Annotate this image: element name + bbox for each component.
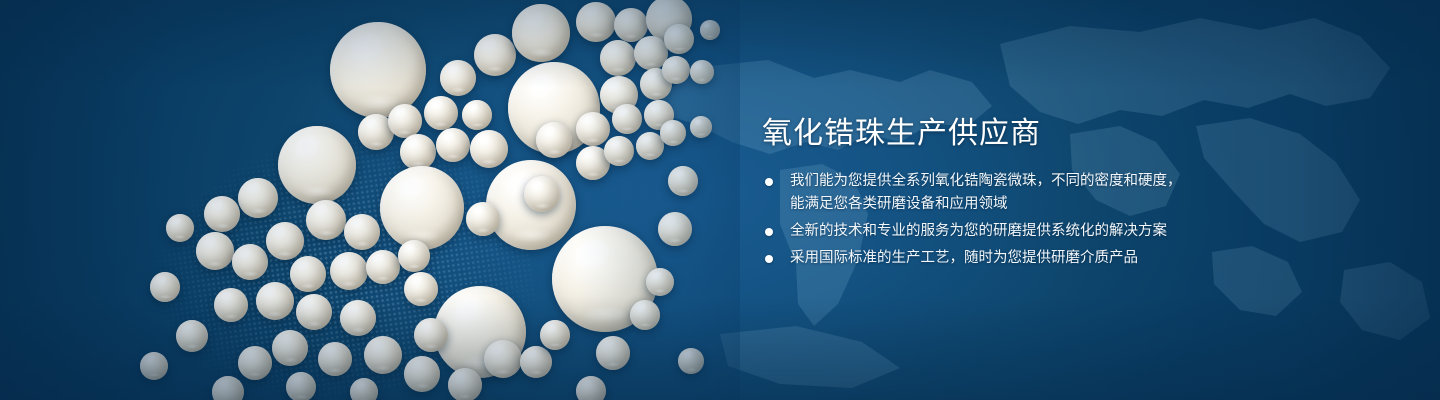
banner-headline: 氧化锆珠生产供应商 (762, 108, 1041, 152)
feature-list-item: 全新的技术和专业的服务为您的研磨提供系统化的解决方案 (762, 220, 1182, 243)
feature-text-line: 全新的技术和专业的服务为您的研磨提供系统化的解决方案 (790, 220, 1182, 243)
feature-text-line: 采用国际标准的生产工艺，随时为您提供研磨介质产品 (790, 247, 1182, 270)
feature-list-item: 我们能为您提供全系列氧化锆陶瓷微珠，不同的密度和硬度，能满足您各类研磨设备和应用… (762, 170, 1182, 216)
banner-content: 氧化锆珠生产供应商 我们能为您提供全系列氧化锆陶瓷微珠，不同的密度和硬度，能满足… (762, 0, 1362, 400)
promo-banner: 氧化锆珠生产供应商 我们能为您提供全系列氧化锆陶瓷微珠，不同的密度和硬度，能满足… (0, 0, 1440, 400)
bullet-dot-icon (765, 178, 773, 186)
bullet-dot-icon (765, 228, 773, 236)
feature-list-item: 采用国际标准的生产工艺，随时为您提供研磨介质产品 (762, 247, 1182, 270)
feature-list: 我们能为您提供全系列氧化锆陶瓷微珠，不同的密度和硬度，能满足您各类研磨设备和应用… (762, 170, 1182, 274)
feature-text-line: 我们能为您提供全系列氧化锆陶瓷微珠，不同的密度和硬度， (790, 170, 1182, 193)
bullet-dot-icon (765, 255, 773, 263)
feature-text-line: 能满足您各类研磨设备和应用领域 (790, 193, 1182, 216)
